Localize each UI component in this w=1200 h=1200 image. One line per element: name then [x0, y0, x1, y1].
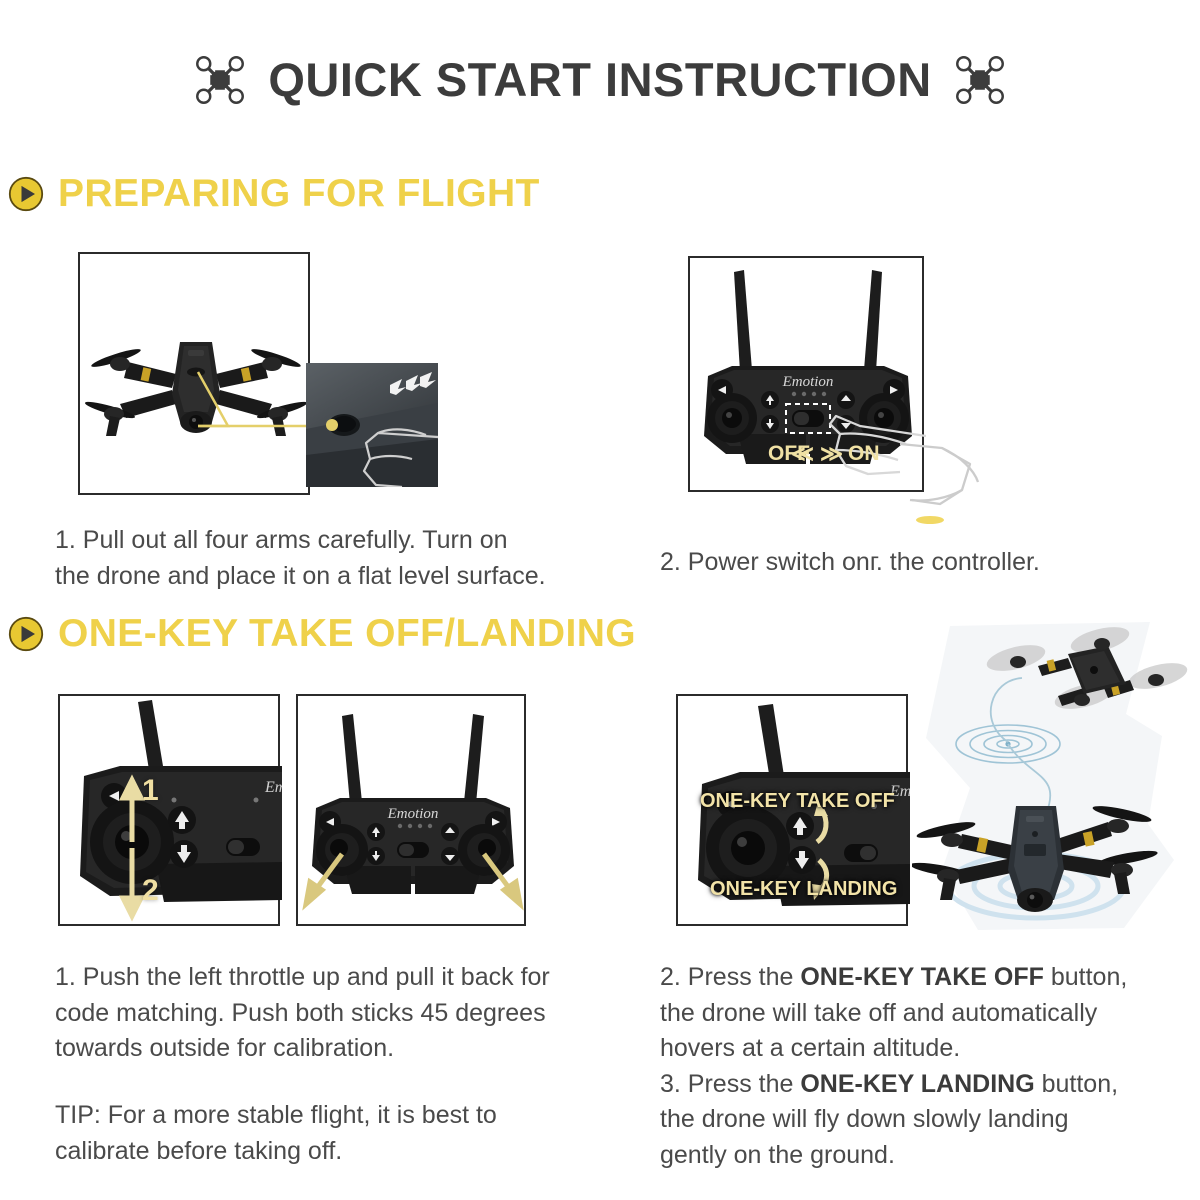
play-circle-icon: [8, 176, 44, 212]
step-1-1-text: 1. Pull out all four arms carefully. Tur…: [55, 523, 615, 594]
one-key-landing-emphasis: ONE-KEY LANDING: [800, 1070, 1034, 1098]
step-2-2-lead: 2. Press the: [660, 963, 800, 991]
controller-power-switch-figure: Emotion: [690, 258, 926, 494]
one-key-landing-label: ONE-KEY LANDING: [710, 878, 897, 901]
step-2-3-line-3: gently on the ground.: [660, 1138, 1200, 1174]
section-title: ONE-KEY TAKE OFF/LANDING: [58, 612, 636, 656]
step-1-1-line-1: 1. Pull out all four arms carefully. Tur…: [55, 523, 615, 559]
both-sticks-outward-panel: Emotion: [296, 694, 526, 926]
brand-logo-text: Emotion: [387, 806, 439, 822]
step-2-2-line-2: the drone will take off and automaticall…: [660, 996, 1200, 1032]
section-heading-one-key-take-off-landing: ONE-KEY TAKE OFF/LANDING: [8, 612, 636, 656]
step-2-2-tail: button,: [1044, 963, 1127, 991]
off-chevron-icon: ≪: [791, 441, 814, 466]
throttle-step-1-label: 1: [142, 774, 159, 808]
tip-line-1: TIP: For a more stable flight, it is bes…: [55, 1098, 635, 1134]
power-on-label: ON: [848, 442, 880, 465]
step-2-2-text: 2. Press the ONE-KEY TAKE OFF button, th…: [660, 960, 1200, 1173]
drone-icon: [194, 54, 246, 106]
power-button-closeup: [306, 363, 438, 487]
step-2-2-line-3: hovers at a certain altitude.: [660, 1031, 1200, 1067]
throttle-step-2-label: 2: [142, 874, 159, 908]
step-2-3-line-1: 3. Press the ONE-KEY LANDING button,: [660, 1067, 1200, 1103]
step-2-1-line-3: towards outside for calibration.: [55, 1031, 635, 1067]
step-1-1-line-2: the drone and place it on a flat level s…: [55, 559, 615, 595]
step-2-2-line-1: 2. Press the ONE-KEY TAKE OFF button,: [660, 960, 1200, 996]
drone-unfold-figure: [80, 254, 312, 497]
page-title-bar: QUICK START INSTRUCTION: [0, 52, 1200, 107]
step-1-2-text: 2. Power switch onг. the controller.: [660, 545, 1200, 581]
tip-line-2: calibrate before taking off.: [55, 1134, 635, 1170]
one-key-take-off-emphasis: ONE-KEY TAKE OFF: [800, 963, 1044, 991]
brand-logo-text: Em: [264, 779, 282, 796]
step-2-1-text: 1. Push the left throttle up and pull it…: [55, 960, 635, 1067]
step-2-1-line-2: code matching. Push both sticks 45 degre…: [55, 996, 635, 1032]
on-chevron-icon: ≫: [820, 441, 843, 466]
tip-text: TIP: For a more stable flight, it is bes…: [55, 1098, 635, 1169]
brand-logo-text: Emotion: [782, 374, 834, 390]
section-heading-preparing-for-flight: PREPARING FOR FLIGHT: [8, 172, 540, 216]
step-2-3-lead: 3. Press the: [660, 1070, 800, 1098]
step-1-2-line-1: 2. Power switch onг. the controller.: [660, 545, 1200, 581]
step-2-3-tail: button,: [1035, 1070, 1118, 1098]
pointing-hand-icon: [900, 420, 1010, 540]
one-key-controller-panel: Emo: [676, 694, 908, 926]
step-2-1-line-1: 1. Push the left throttle up and pull it…: [55, 960, 635, 996]
throttle-updown-panel: Em: [58, 694, 280, 926]
one-key-take-off-label: ONE-KEY TAKE OFF: [700, 790, 895, 813]
takeoff-landing-illustration: [912, 618, 1192, 936]
step-2-3-line-2: the drone will fly down slowly landing: [660, 1102, 1200, 1138]
throttle-updown-figure: Em: [60, 696, 282, 928]
quick-start-instruction-page: QUICK START INSTRUCTION PREPARING FOR FL…: [0, 0, 1200, 1200]
page-title: QUICK START INSTRUCTION: [268, 52, 931, 107]
section-title: PREPARING FOR FLIGHT: [58, 172, 540, 216]
both-sticks-outward-figure: Emotion: [298, 696, 528, 928]
drone-icon: [954, 54, 1006, 106]
drone-unfold-panel: [78, 252, 310, 495]
play-circle-icon: [8, 616, 44, 652]
controller-power-switch-panel: Emotion: [688, 256, 924, 492]
power-button-detail-inset: [306, 363, 438, 487]
